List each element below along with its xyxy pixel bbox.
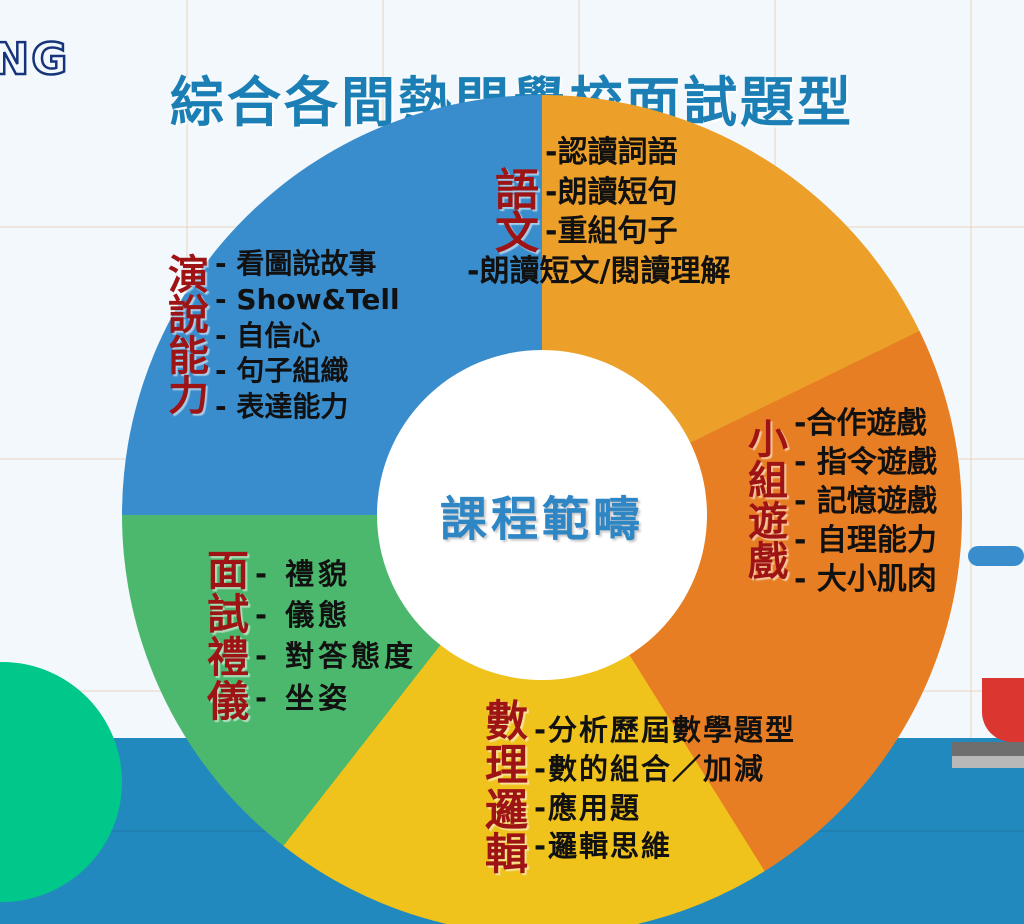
segment-item: -朗讀短文/閱讀理解 [467,252,730,292]
segment-item: -數的組合／加減 [534,750,796,789]
segment-label-math-logic[interactable]: 數 理 邏 輯 -分析歷屆數學題型 -數的組合／加減 -應用題 -邏輯思維 [485,700,796,877]
segment-item: - 記憶遊戲 [794,482,937,521]
segment-heading-interview-etiquette: 面 試 禮 儀 [207,549,249,724]
segment-item: -合作遊戲 [794,404,937,443]
segment-item: -分析歷屆數學題型 [534,711,796,750]
segment-label-language[interactable]: 語 文 -認讀詞語 -朗讀短句 -重組句子 -朗讀短文/閱讀理解 [495,133,730,291]
segment-heading-language: 語 文 [495,169,539,255]
gray-bar-light-decoration [952,756,1024,768]
segment-item: -邏輯思維 [534,827,796,866]
gray-bar-dark-decoration [952,742,1024,756]
segment-heading-group-games: 小 組 遊 戲 [748,420,788,583]
segment-heading-speech-ability: 演 說 能 力 [168,255,209,416]
segment-items-group-games: -合作遊戲 - 指令遊戲 - 記憶遊戲 - 自理能力 - 大小肌肉 [794,404,937,599]
segment-label-group-games[interactable]: 小 組 遊 戲 -合作遊戲 - 指令遊戲 - 記憶遊戲 - 自理能力 - 大小肌… [748,404,937,599]
segment-item: - Show&Tell [215,282,400,318]
segment-items-math-logic: -分析歷屆數學題型 -數的組合／加減 -應用題 -邏輯思維 [534,711,796,865]
slide-canvas: ING 綜合各間熱門學校面試題型 課程範疇 語 文 -認讀詞語 -朗讀短句 -重… [0,0,1024,924]
segment-item: - 大小肌肉 [794,560,937,599]
segment-heading-math-logic: 數 理 邏 輯 [485,700,528,877]
segment-item: - 自信心 [215,318,400,354]
segment-label-speech-ability[interactable]: 演 說 能 力 - 看圖說故事 - Show&Tell - 自信心 - 句子組織… [168,246,400,425]
segment-item: - 指令遊戲 [794,443,937,482]
segment-item: - 看圖說故事 [215,246,400,282]
red-shape-decoration [982,678,1024,742]
segment-item: - 儀態 [255,595,417,636]
segment-item: -朗讀短句 [545,173,730,213]
segment-item: - 對答態度 [255,636,417,677]
segment-items-language: -認讀詞語 -朗讀短句 -重組句子 -朗讀短文/閱讀理解 [545,133,730,291]
segment-item: - 坐姿 [255,678,417,719]
segment-label-interview-etiquette[interactable]: 面 試 禮 儀 - 禮貌 - 儀態 - 對答態度 - 坐姿 [207,549,417,724]
segment-item: -重組句子 [545,212,730,252]
segment-items-speech-ability: - 看圖說故事 - Show&Tell - 自信心 - 句子組織 - 表達能力 [215,246,400,425]
segment-item: - 句子組織 [215,353,400,389]
blue-pill-decoration [968,546,1024,566]
segment-item: - 禮貌 [255,554,417,595]
segment-items-interview-etiquette: - 禮貌 - 儀態 - 對答態度 - 坐姿 [255,554,417,719]
donut-center-label: 課程範疇 [440,481,644,550]
segment-item: - 自理能力 [794,521,937,560]
segment-item: - 表達能力 [215,389,400,425]
segment-item: -應用題 [534,789,796,828]
segment-item: -認讀詞語 [545,133,730,173]
